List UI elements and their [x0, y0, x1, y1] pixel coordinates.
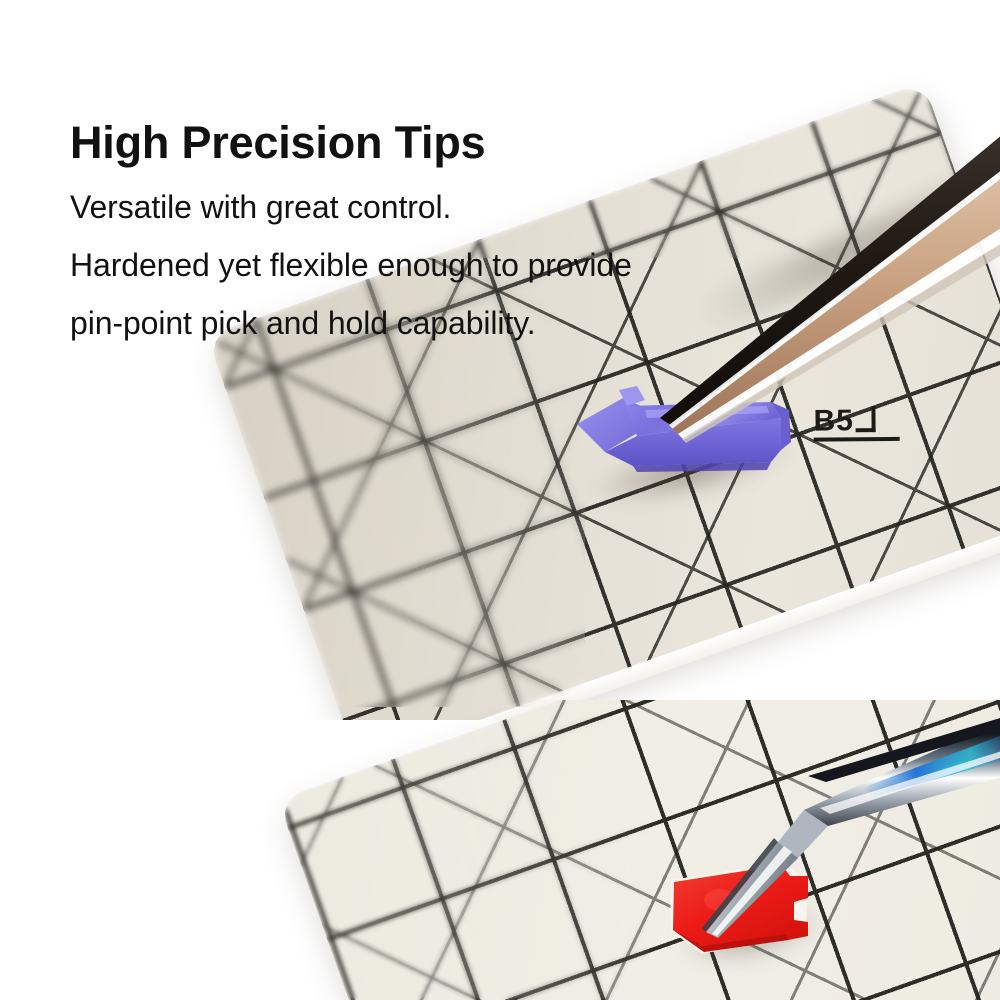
tweezer-straight [620, 120, 1000, 450]
top-scene: B5 [0, 0, 1000, 720]
product-feature-image: B5 [0, 0, 1000, 1000]
tweezer-bent-esd [700, 690, 1000, 940]
